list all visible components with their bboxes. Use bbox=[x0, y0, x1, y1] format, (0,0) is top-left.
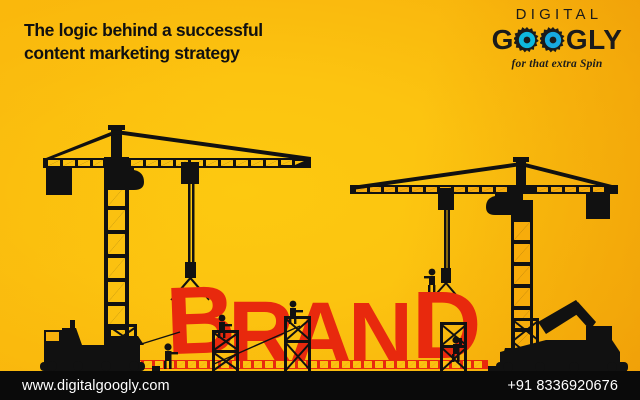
poster-canvas: B R A N D bbox=[0, 0, 640, 400]
worker-figure bbox=[218, 315, 232, 338]
bulldozer-silhouette bbox=[40, 320, 145, 371]
headline-line-1: The logic behind a successful bbox=[24, 19, 354, 42]
worker-figure bbox=[424, 269, 435, 292]
logo-tagline: for that extra Spin bbox=[482, 58, 632, 70]
logo-letter-g: G bbox=[492, 24, 514, 55]
logo-digital-text: DIGITAL bbox=[482, 6, 632, 23]
logo-googly-text: G GLY bbox=[482, 24, 632, 55]
logo-letters-gly: GLY bbox=[566, 24, 623, 55]
gear-icon bbox=[540, 27, 566, 53]
worker-figure bbox=[452, 336, 462, 362]
headline: The logic behind a successful content ma… bbox=[24, 19, 354, 65]
worker-figure bbox=[289, 301, 303, 324]
gear-icon bbox=[514, 27, 540, 53]
footer-bar: www.digitalgoogly.com +91 8336920676 bbox=[0, 371, 640, 400]
brand-logo[interactable]: DIGITAL G GLY for bbox=[482, 6, 632, 80]
excavator-silhouette bbox=[496, 300, 628, 372]
headline-line-2: content marketing strategy bbox=[24, 42, 354, 65]
footer-phone[interactable]: +91 8336920676 bbox=[507, 378, 618, 394]
footer-website[interactable]: www.digitalgoogly.com bbox=[22, 378, 170, 394]
